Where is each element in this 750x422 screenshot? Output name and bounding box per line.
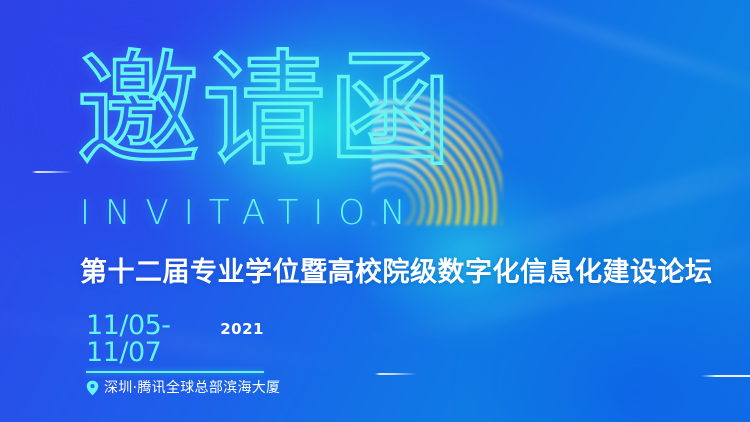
event-details-block: 11/05-11/07 2021 深圳·腾讯全球总部滨海大厦 <box>86 312 264 396</box>
invitation-poster: 邀请函 INVITATION 第十二届专业学位暨高校院级数字化信息化建设论坛 1… <box>0 0 750 422</box>
event-date-row: 11/05-11/07 2021 <box>86 312 264 371</box>
event-subtitle: 第十二届专业学位暨高校院级数字化信息化建设论坛 <box>80 258 713 288</box>
event-year: 2021 <box>220 322 264 337</box>
page-title-latin: INVITATION <box>80 196 421 230</box>
hairline-accent <box>32 171 72 173</box>
event-venue-name: 深圳·腾讯全球总部滨海大厦 <box>104 381 280 395</box>
hairline-accent <box>375 373 417 375</box>
date-underline-rule <box>86 371 264 373</box>
hairline-accent <box>701 375 750 377</box>
event-venue-row: 深圳·腾讯全球总部滨海大厦 <box>86 380 264 396</box>
event-date-range: 11/05-11/07 <box>86 312 211 366</box>
page-title: 邀请函 <box>76 48 454 174</box>
location-pin-icon <box>86 380 99 396</box>
